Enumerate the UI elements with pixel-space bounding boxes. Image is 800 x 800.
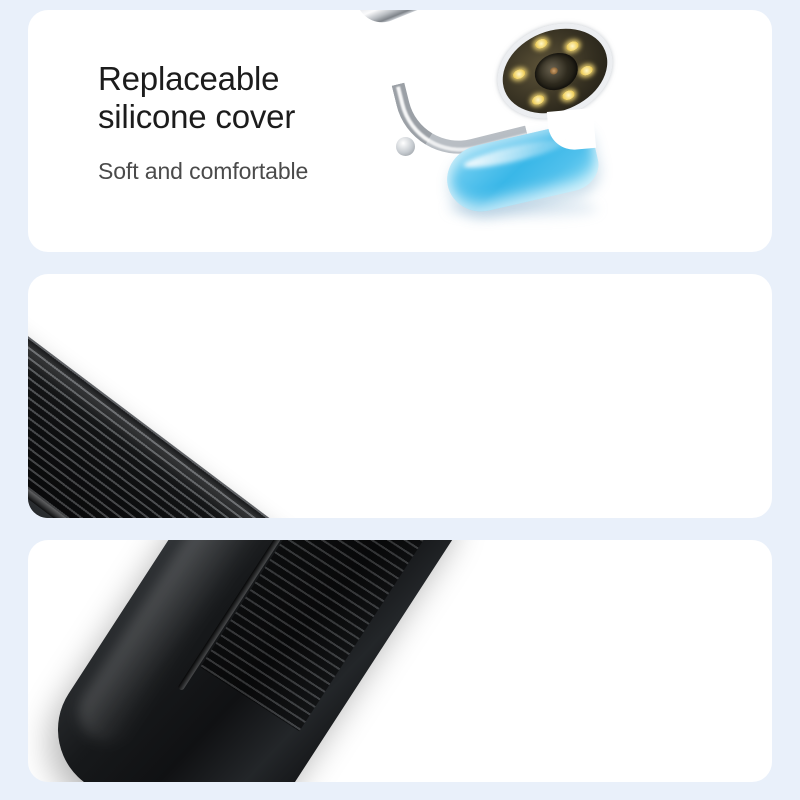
charging-illustration [28, 540, 772, 782]
scoop-rounded-end [396, 137, 415, 156]
feature-card-type-c-charge: Type-C Charge About 60 days of battery l… [28, 540, 772, 782]
device-body-illustration [28, 274, 772, 518]
product-feature-infographic: Replaceable silicone cover Soft and comf… [0, 0, 800, 800]
feature-card-silicone-cover: Replaceable silicone cover Soft and comf… [28, 10, 772, 252]
device-tail [33, 540, 483, 782]
ribbed-black-body [28, 274, 433, 518]
tail-rib-texture [200, 540, 462, 731]
silicone-cover-text-block: Replaceable silicone cover Soft and comf… [98, 60, 308, 185]
feature-card-one-touch-start: One-touch start easy to use [28, 274, 772, 518]
panel-1-headline: Replaceable silicone cover [98, 60, 308, 137]
panel-1-subline: Soft and comfortable [98, 157, 308, 185]
